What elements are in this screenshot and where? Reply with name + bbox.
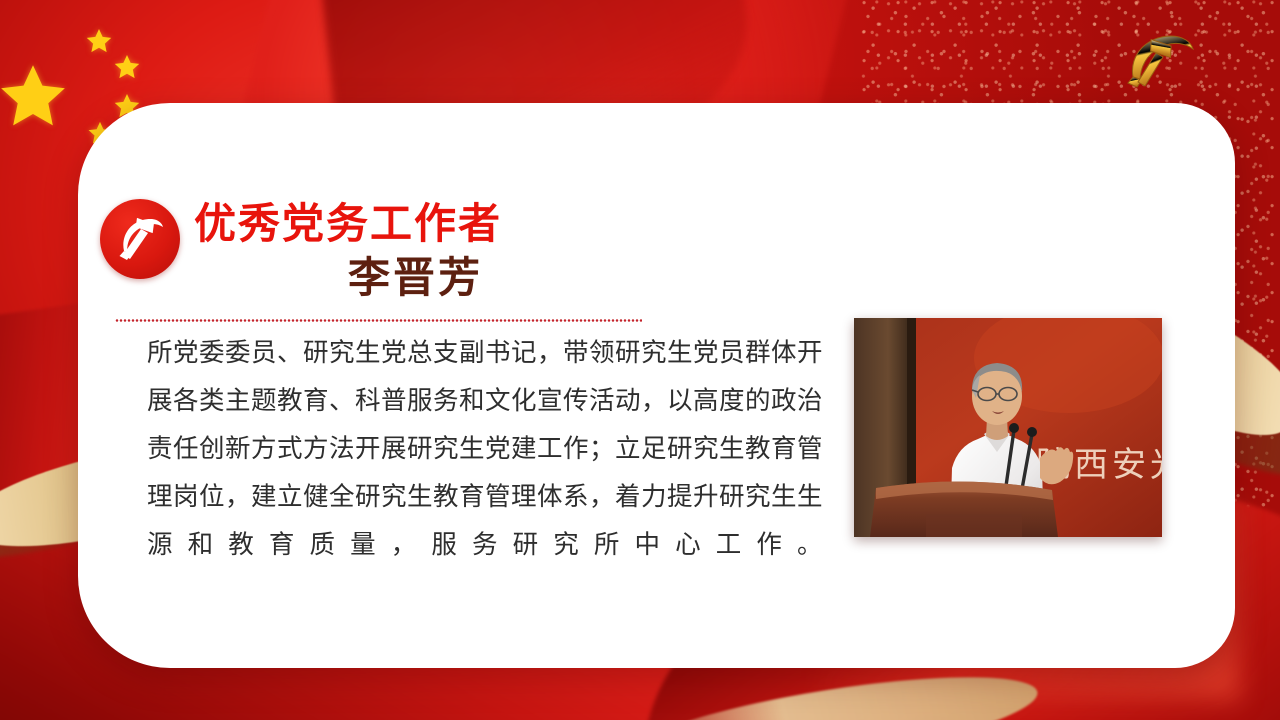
party-emblem-hammer-sickle-icon xyxy=(100,199,180,279)
flag-small-star-2-icon xyxy=(112,53,142,83)
hammer-sickle-gold-icon xyxy=(1113,27,1205,99)
person-name: 李晋芳 xyxy=(348,257,483,299)
slide-root: 优秀党务工作者 李晋芳 所党委委员、研究生党总支副书记，带领研究生党员群体开展各… xyxy=(0,0,1280,720)
speaker-photo: 院西安光 xyxy=(854,318,1162,537)
biography-paragraph: 所党委委员、研究生党总支副书记，带领研究生党员群体开展各类主题教育、科普服务和文… xyxy=(147,329,823,569)
page-title: 优秀党务工作者 xyxy=(194,203,502,245)
flag-small-star-1-icon xyxy=(84,27,114,57)
dotted-divider xyxy=(115,319,642,322)
chinese-flag-stars-icon xyxy=(0,60,72,138)
biography-text: 所党委委员、研究生党总支副书记，带领研究生党员群体开展各类主题教育、科普服务和文… xyxy=(147,329,823,569)
speaker-photo-image: 院西安光 xyxy=(854,318,1162,537)
